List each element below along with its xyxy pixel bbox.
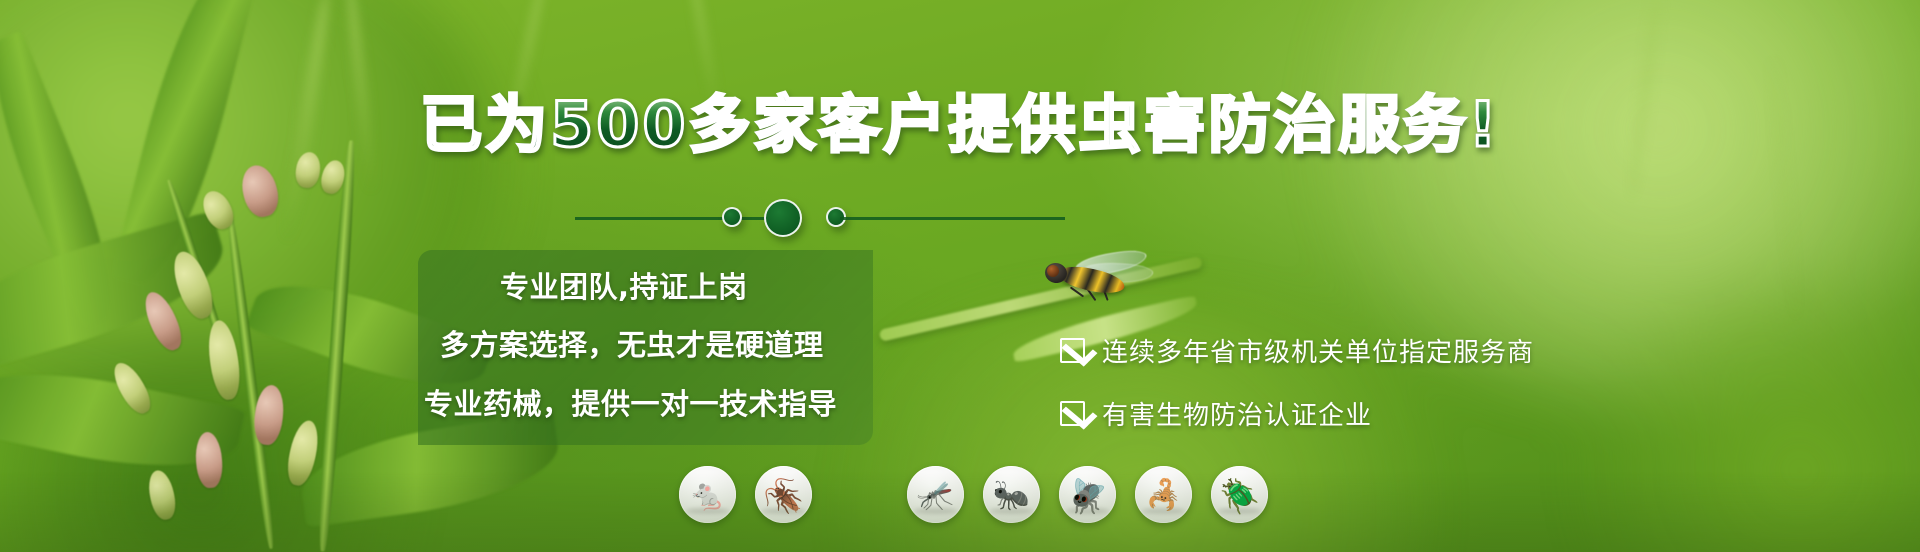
claims-panel-text: 专业团队,持证上岗 多方案选择，无虫才是硬道理 专业药械，提供一对一技术指导 <box>418 250 978 445</box>
decorative-divider <box>0 196 1920 240</box>
checkmark-icon <box>1060 338 1085 363</box>
credentials-checklist: 连续多年省市级机关单位指定服务商 有害生物防治认证企业 <box>1060 332 1534 458</box>
bottom-vignette <box>0 472 1920 552</box>
pest-control-hero-banner: 已为500多家客户提供虫害防治服务! 已为500多家客户提供虫害防治服务! 专业… <box>0 0 1920 552</box>
claim-line-3: 专业药械，提供一对一技术指导 <box>424 381 837 423</box>
headline-block: 已为500多家客户提供虫害防治服务! 已为500多家客户提供虫害防治服务! <box>0 74 1920 164</box>
divider-dot-large <box>764 199 802 237</box>
checklist-item-label: 连续多年省市级机关单位指定服务商 <box>1102 332 1534 369</box>
banner-headline: 已为500多家客户提供虫害防治服务! <box>420 74 1500 164</box>
divider-dot-small-left <box>722 207 742 227</box>
checklist-item: 有害生物防治认证企业 <box>1060 395 1534 432</box>
checklist-item-label: 有害生物防治认证企业 <box>1102 395 1372 432</box>
claim-line-2: 多方案选择，无虫才是硬道理 <box>440 322 824 364</box>
checklist-item: 连续多年省市级机关单位指定服务商 <box>1060 332 1534 369</box>
checkmark-icon <box>1060 401 1085 426</box>
claim-line-1: 专业团队,持证上岗 <box>500 264 748 306</box>
hoverfly-illustration <box>1035 247 1155 309</box>
divider-line-right <box>840 217 1065 220</box>
